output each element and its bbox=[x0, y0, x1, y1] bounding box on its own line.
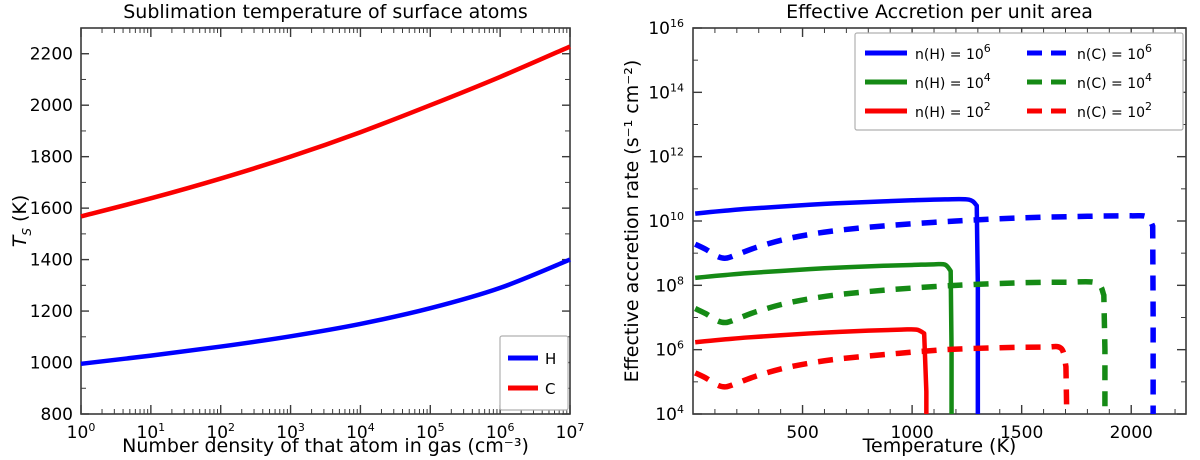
left-plot-title: Sublimation temperature of surface atoms bbox=[123, 1, 528, 23]
right-xaxis-label: Temperature (K) bbox=[862, 435, 1017, 457]
left-y-ticklabel: 1000 bbox=[30, 354, 73, 374]
left-legend-box[interactable] bbox=[500, 336, 568, 410]
left-curve-H bbox=[81, 260, 570, 364]
left-y-ticklabel: 800 bbox=[41, 405, 73, 425]
left-y-ticklabel: 2200 bbox=[30, 45, 73, 65]
right-curve-nH10 bbox=[695, 329, 926, 414]
left-yaxis-label: TS (K) bbox=[9, 195, 34, 248]
right-curve-nH10 bbox=[695, 199, 978, 414]
figure-canvas: Sublimation temperature of surface atoms… bbox=[0, 0, 1200, 460]
right-yaxis-label: Effective accretion rate (s⁻¹ cm⁻²) bbox=[621, 60, 643, 383]
right-plot-title: Effective Accretion per unit area bbox=[786, 1, 1093, 23]
left-xaxis-label: Number density of that atom in gas (cm⁻³… bbox=[122, 435, 529, 457]
right-y-ticklabel: 108 bbox=[655, 274, 684, 296]
left-x-ticklabel: 107 bbox=[556, 421, 585, 443]
right-y-ticklabel: 1016 bbox=[648, 17, 684, 39]
left-y-ticklabel: 1600 bbox=[30, 199, 73, 219]
left-y-ticklabel: 1800 bbox=[30, 148, 73, 168]
right-y-ticklabel: 106 bbox=[655, 339, 684, 361]
left-y-ticklabel: 1400 bbox=[30, 251, 73, 271]
left-y-ticklabel: 1200 bbox=[30, 302, 73, 322]
right-y-ticklabel: 1010 bbox=[648, 210, 684, 232]
svg-text:TS (K): TS (K) bbox=[9, 195, 34, 248]
left-x-ticklabel: 100 bbox=[67, 421, 96, 443]
right-x-ticklabel: 500 bbox=[786, 423, 818, 443]
right-x-ticklabel: 2000 bbox=[1110, 423, 1153, 443]
left-legend-label-H: H bbox=[545, 350, 556, 368]
left-y-ticklabel: 2000 bbox=[30, 96, 73, 116]
right-curve-nC10 bbox=[695, 282, 1105, 414]
left-legend-label-C: C bbox=[545, 380, 555, 398]
right-y-ticklabel: 104 bbox=[655, 403, 684, 425]
figure-svg: Sublimation temperature of surface atoms… bbox=[0, 0, 1200, 460]
right-curve-nC10 bbox=[695, 347, 1066, 414]
right-y-ticklabel: 1012 bbox=[648, 146, 684, 168]
right-y-ticklabel: 1014 bbox=[648, 81, 684, 103]
left-curve-C bbox=[81, 47, 570, 217]
svg-text:Effective accretion rate (s⁻¹: Effective accretion rate (s⁻¹ cm⁻²) bbox=[621, 60, 643, 383]
